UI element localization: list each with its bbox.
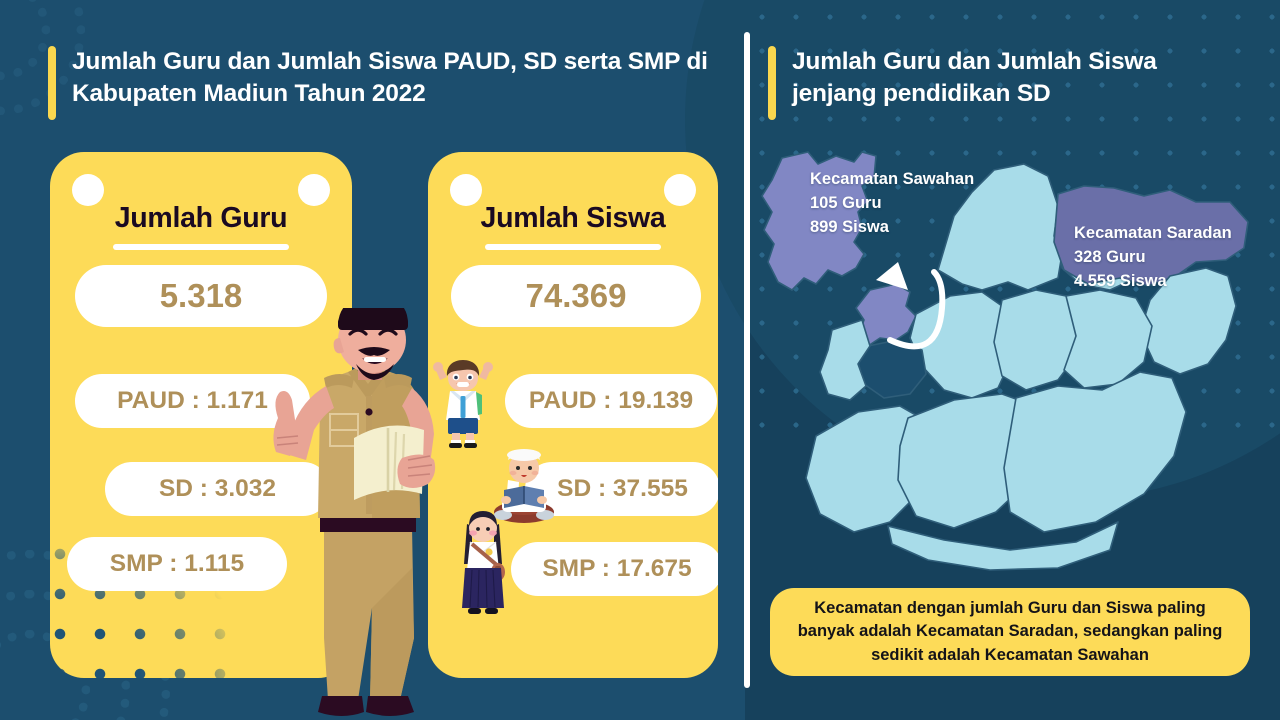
title-accent-bar <box>48 46 56 120</box>
teacher-illustration <box>262 308 472 720</box>
card-guru-heading: Jumlah Guru <box>50 202 352 235</box>
card-siswa-total-value: 74.369 <box>451 265 701 327</box>
map-label-saradan: Kecamatan Saradan 328 Guru 4.559 Siswa <box>1074 222 1232 294</box>
card-siswa-rule <box>485 244 661 250</box>
panel-divider <box>744 32 750 688</box>
map-label-sawahan-siswa: 899 Siswa <box>810 216 974 240</box>
map-label-sawahan-name: Kecamatan Sawahan <box>810 168 974 192</box>
card-guru-rule <box>113 244 289 250</box>
infographic-canvas: Jumlah Guru dan Jumlah Siswa PAUD, SD se… <box>0 0 1280 720</box>
card-siswa-row-paud: PAUD : 19.139 <box>505 374 717 428</box>
map-label-saradan-siswa: 4.559 Siswa <box>1074 270 1232 294</box>
right-title-text: Jumlah Guru dan Jumlah Siswa jenjang pen… <box>792 46 1238 111</box>
title-accent-bar <box>768 46 776 120</box>
left-title-text: Jumlah Guru dan Jumlah Siswa PAUD, SD se… <box>72 46 708 111</box>
card-siswa-row-smp: SMP : 17.675 <box>511 542 718 596</box>
map-caption-text: Kecamatan dengan jumlah Guru dan Siswa p… <box>784 597 1236 667</box>
card-guru-row-smp: SMP : 1.115 <box>67 537 287 591</box>
map-caption-box: Kecamatan dengan jumlah Guru dan Siswa p… <box>770 588 1250 676</box>
card-siswa-heading: Jumlah Siswa <box>428 202 718 235</box>
left-panel-title: Jumlah Guru dan Jumlah Siswa PAUD, SD se… <box>48 46 708 120</box>
map-kabupaten-madiun[interactable]: Kecamatan Sawahan 105 Guru 899 Siswa Kec… <box>758 150 1266 574</box>
map-label-saradan-guru: 328 Guru <box>1074 246 1232 270</box>
map-label-sawahan-guru: 105 Guru <box>810 192 974 216</box>
map-region-south-east <box>1004 372 1186 532</box>
right-panel-title: Jumlah Guru dan Jumlah Siswa jenjang pen… <box>768 46 1238 120</box>
map-region-south-bottom <box>888 522 1118 570</box>
map-label-sawahan: Kecamatan Sawahan 105 Guru 899 Siswa <box>810 168 974 240</box>
map-label-saradan-name: Kecamatan Saradan <box>1074 222 1232 246</box>
